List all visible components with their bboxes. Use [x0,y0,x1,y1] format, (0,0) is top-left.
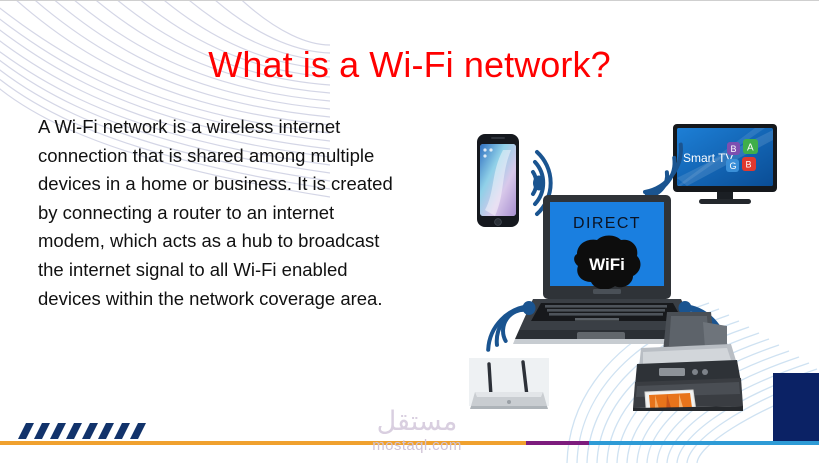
smartphone-icon [477,134,519,227]
slide-canvas: What is a Wi-Fi network? A Wi-Fi network… [0,0,819,463]
bottom-bar-segment-purple [526,441,589,445]
wifi-signal-dot-router [523,301,536,315]
navy-accent-block [773,373,819,445]
slide-body-text: A Wi-Fi network is a wireless internet c… [38,113,398,313]
smart-tv-icon: Smart TV B A G B [673,124,777,204]
watermark-latin: mostaql.com [353,437,481,454]
svg-text:G: G [730,161,737,171]
wifi-signal-dot-phone [533,176,545,191]
slide-title: What is a Wi-Fi network? [0,43,819,87]
svg-text:A: A [747,143,754,154]
svg-text:B: B [731,144,737,154]
laptop-screen-heading: DIRECT [573,215,641,232]
bottom-bar-segment-orange [0,441,526,445]
bottom-accent-bar [0,441,819,445]
smart-tv-label: Smart TV [683,151,733,165]
wifi-router-icon [469,358,549,409]
watermark-arabic: مستقل [353,407,481,437]
decorative-slashes [14,423,149,439]
wifi-network-illustration: Smart TV B A G B [455,106,795,411]
laptop-screen-logo-text: WiFi [589,255,625,274]
svg-text:B: B [746,160,752,170]
bottom-bar-segment-blue [589,441,819,445]
watermark: مستقل mostaql.com [353,407,481,454]
